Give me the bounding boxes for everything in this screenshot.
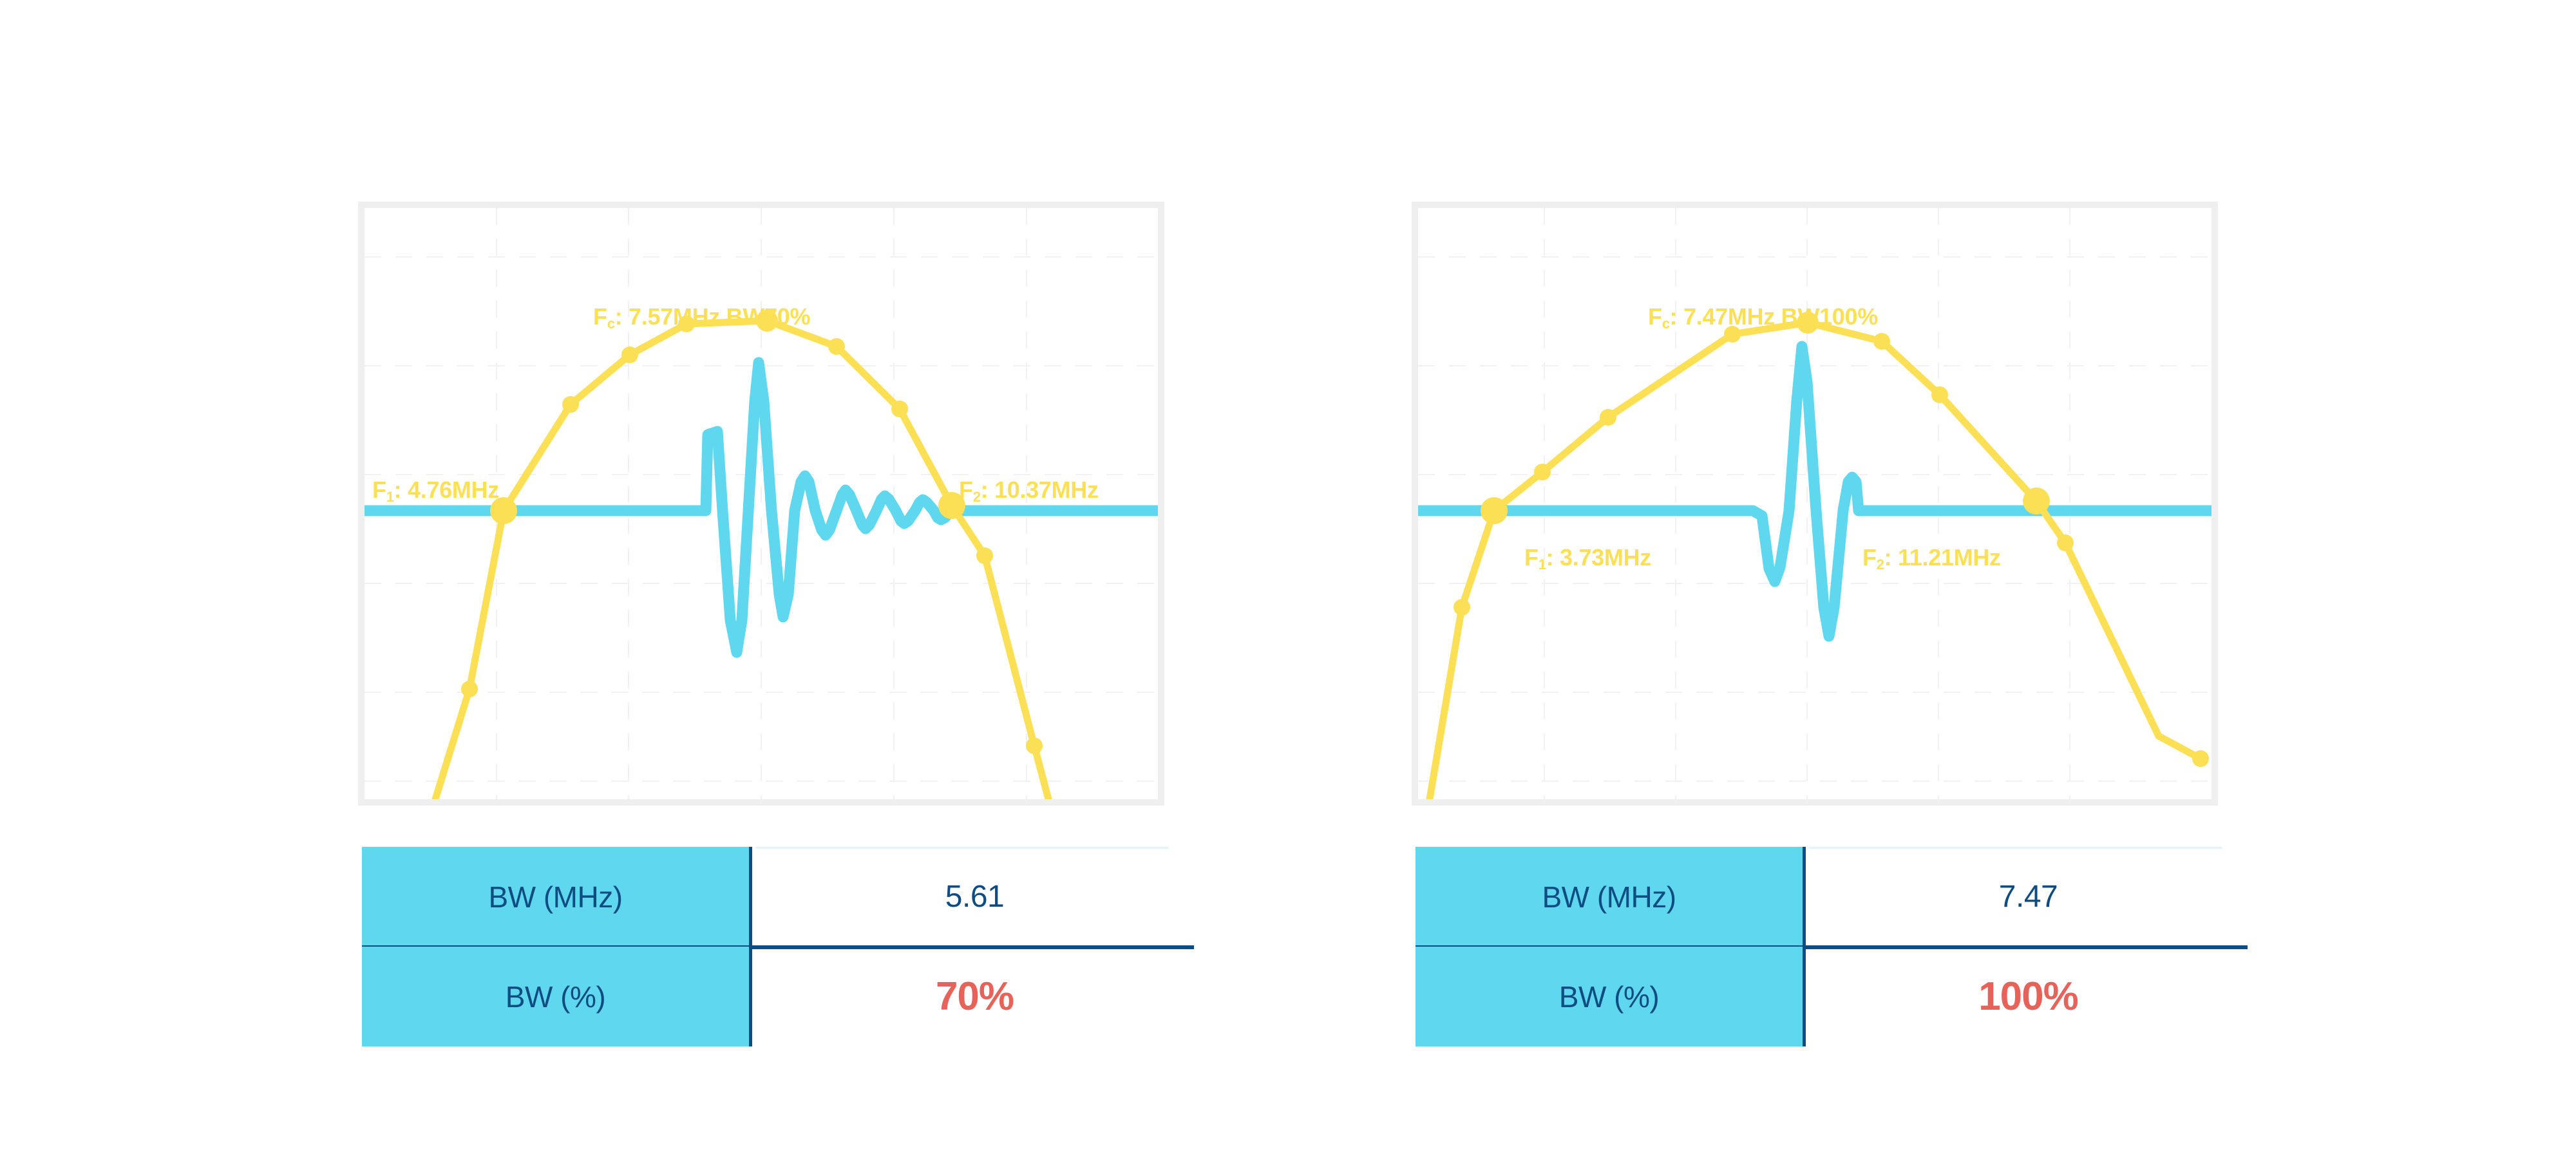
transducer-panel-right: Fc: 7.47MHz BW100% F1: 3.73MHz F2: 11.21… [1401, 0, 2458, 1154]
fc-prefix-left: F [593, 303, 607, 330]
f1-prefix-right: F [1524, 544, 1539, 571]
lower-cutoff-label-right: F1: 3.73MHz [1524, 546, 1651, 572]
bw-pct-value-cell-left: 70% [755, 947, 1194, 1046]
table-row: BW (%) 100% [1416, 947, 2248, 1046]
fc-prefix-right: F [1648, 303, 1662, 330]
fc-subscript-left: c [607, 316, 615, 332]
fc-rest-right: : 7.47MHz BW100% [1670, 303, 1878, 330]
figure-canvas: Fc: 7.57MHz BW70% F1: 4.76MHz F2: 10.37M… [0, 0, 2576, 1154]
f2-rest-left: : 10.37MHz [981, 477, 1099, 503]
f2-prefix-left: F [959, 477, 973, 503]
table-row: BW (%) 70% [362, 947, 1194, 1046]
f2-subscript-left: 2 [973, 489, 981, 505]
f1-subscript-left: 1 [386, 489, 394, 505]
upper-cutoff-label-right: F2: 11.21MHz [1862, 546, 2001, 572]
spectrum-markers-right [1454, 312, 2209, 767]
bw-mhz-value-left: 5.61 [945, 879, 1004, 914]
table-row: BW (MHz) 5.61 [362, 847, 1194, 947]
bw-mhz-key-left: BW (MHz) [362, 847, 752, 947]
lower-cutoff-label-left: F1: 4.76MHz [372, 478, 499, 504]
bw-mhz-key-right: BW (MHz) [1416, 847, 1806, 947]
bw-pct-value-cell-right: 100% [1809, 947, 2248, 1046]
fc-rest-left: : 7.57MHz BW70% [615, 303, 811, 330]
bw-pct-key-right: BW (%) [1416, 947, 1806, 1046]
f2-prefix-right: F [1862, 544, 1877, 571]
bw-mhz-value-right: 7.47 [1999, 879, 2058, 914]
f2-rest-right: : 11.21MHz [1884, 544, 2001, 571]
f1-rest-left: : 4.76MHz [394, 477, 499, 503]
f2-subscript-right: 2 [1877, 556, 1884, 572]
f1-prefix-left: F [372, 477, 386, 503]
bandwidth-table-right: BW (MHz) 7.47 BW (%) 100% [1416, 847, 2248, 1046]
chart-panel-right: Fc: 7.47MHz BW100% F1: 3.73MHz F2: 11.21… [1412, 202, 2218, 806]
bw-mhz-value-cell-right: 7.47 [1809, 847, 2248, 947]
upper-cutoff-label-left: F2: 10.37MHz [959, 478, 1099, 504]
plot-area-left: Fc: 7.57MHz BW70% F1: 4.76MHz F2: 10.37M… [365, 208, 1158, 799]
table-row: BW (MHz) 7.47 [1416, 847, 2248, 947]
bw-pct-value-right: 100% [1978, 974, 2078, 1019]
plot-area-right: Fc: 7.47MHz BW100% F1: 3.73MHz F2: 11.21… [1418, 208, 2211, 799]
center-frequency-label-left: Fc: 7.57MHz BW70% [593, 305, 810, 331]
chart-panel-left: Fc: 7.57MHz BW70% F1: 4.76MHz F2: 10.37M… [358, 202, 1164, 806]
transducer-panel-left: Fc: 7.57MHz BW70% F1: 4.76MHz F2: 10.37M… [348, 0, 1404, 1154]
bw-mhz-value-cell-left: 5.61 [755, 847, 1194, 947]
bandwidth-table-left: BW (MHz) 5.61 BW (%) 70% [362, 847, 1194, 1046]
fc-subscript-right: c [1662, 316, 1670, 332]
f1-rest-right: : 3.73MHz [1546, 544, 1651, 571]
center-frequency-label-right: Fc: 7.47MHz BW100% [1648, 305, 1878, 331]
bw-pct-key-left: BW (%) [362, 947, 752, 1046]
f1-subscript-right: 1 [1539, 556, 1546, 572]
spectrum-plot-right [1418, 208, 2211, 799]
bw-pct-value-left: 70% [936, 974, 1014, 1019]
